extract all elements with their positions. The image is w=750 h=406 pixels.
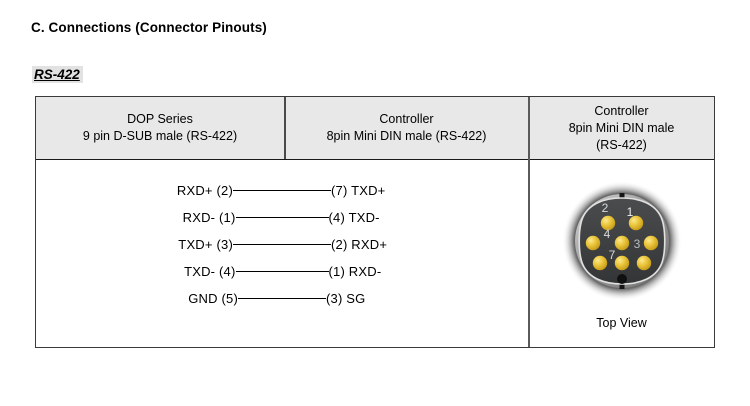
mini-din-connector-icon: 2 1 4 3 7 bbox=[560, 179, 684, 303]
connector-caption: Top View bbox=[596, 316, 647, 330]
pin-connection-list: RXD+ (2) (7) TXD+ RXD- (1) (4) TXD- TXD+… bbox=[36, 160, 528, 347]
header-line-3: (RS-422) bbox=[596, 137, 647, 154]
pin-label-right: (1) RXD- bbox=[329, 264, 439, 279]
pin-connection-row: RXD- (1) (4) TXD- bbox=[36, 204, 528, 231]
pin-label-left: TXD+ (3) bbox=[123, 237, 233, 252]
header-line-1: DOP Series bbox=[127, 111, 193, 128]
header-line-2: 9 pin D-SUB male (RS-422) bbox=[83, 128, 237, 145]
wire-line bbox=[238, 298, 326, 299]
header-line-2: 8pin Mini DIN male (RS-422) bbox=[327, 128, 487, 145]
table-header-dop-series: DOP Series 9 pin D-SUB male (RS-422) bbox=[36, 97, 284, 159]
subsection-title-rs422: RS-422 bbox=[32, 66, 83, 83]
header-line-1: Controller bbox=[594, 103, 648, 120]
pin-connection-row: TXD- (4) (1) RXD- bbox=[36, 258, 528, 285]
pin-connection-row: RXD+ (2) (7) TXD+ bbox=[36, 177, 528, 204]
svg-text:4: 4 bbox=[603, 227, 610, 241]
page-title: C. Connections (Connector Pinouts) bbox=[31, 20, 267, 35]
wire-line bbox=[233, 244, 331, 245]
wire-line bbox=[236, 217, 329, 218]
pinout-table: DOP Series 9 pin D-SUB male (RS-422) Con… bbox=[35, 96, 715, 348]
pin-label-left: RXD+ (2) bbox=[123, 183, 233, 198]
pin-label-left: RXD- (1) bbox=[126, 210, 236, 225]
connector-illustration-cell: 2 1 4 3 7 Top View bbox=[529, 160, 714, 347]
pin-label-right: (3) SG bbox=[326, 291, 436, 306]
table-header-row: DOP Series 9 pin D-SUB male (RS-422) Con… bbox=[36, 97, 714, 160]
column-divider-1 bbox=[284, 97, 286, 159]
pin-label-right: (4) TXD- bbox=[329, 210, 439, 225]
svg-text:1: 1 bbox=[626, 205, 633, 219]
table-header-controller: Controller 8pin Mini DIN male (RS-422) bbox=[285, 97, 528, 159]
svg-text:7: 7 bbox=[608, 248, 615, 262]
pin-connection-row: TXD+ (3) (2) RXD+ bbox=[36, 231, 528, 258]
pin-label-left: GND (5) bbox=[128, 291, 238, 306]
table-header-controller-view: Controller 8pin Mini DIN male (RS-422) bbox=[529, 97, 714, 159]
svg-text:2: 2 bbox=[601, 201, 608, 215]
wire-line bbox=[236, 271, 329, 272]
pin-label-right: (2) RXD+ bbox=[331, 237, 441, 252]
pin-connection-row: GND (5) (3) SG bbox=[36, 285, 528, 312]
header-line-1: Controller bbox=[379, 111, 433, 128]
wire-line bbox=[233, 190, 331, 191]
pin-label-left: TXD- (4) bbox=[126, 264, 236, 279]
pin-label-right: (7) TXD+ bbox=[331, 183, 441, 198]
header-line-2: 8pin Mini DIN male bbox=[569, 120, 675, 137]
svg-text:3: 3 bbox=[633, 237, 640, 251]
